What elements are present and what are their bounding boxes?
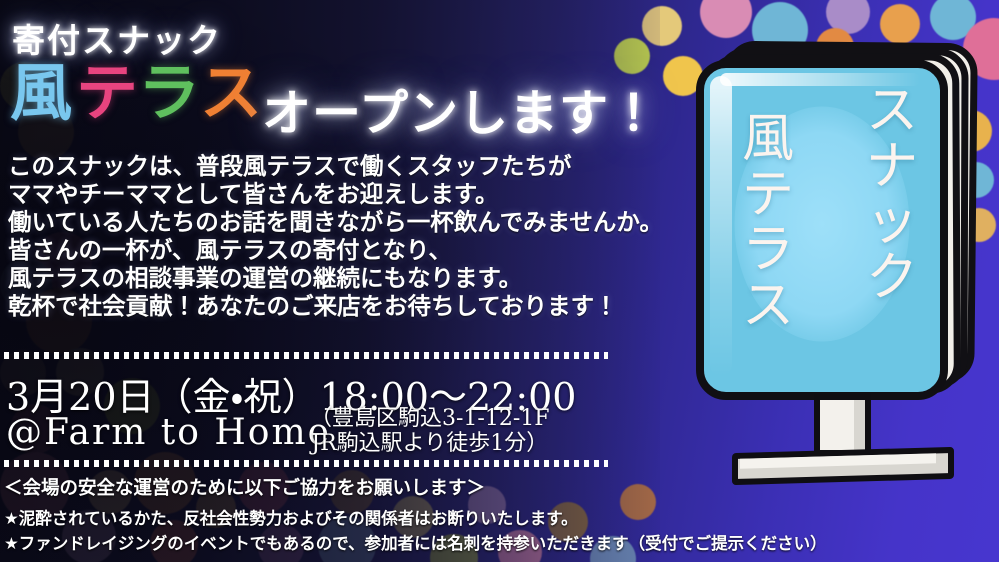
address-line-1: （豊島区駒込3-1-12-1F xyxy=(310,406,550,431)
body-line: 働いている人たちのお話を聞きながら一杯飲んでみませんか。 xyxy=(8,208,648,236)
address-line-2: JR駒込駅より徒歩1分） xyxy=(310,431,550,456)
open-announcement: オープンします！ xyxy=(262,74,659,145)
logo-char-te: テ xyxy=(76,62,138,124)
sign-char: ナ xyxy=(866,140,918,196)
sign-char: ス xyxy=(742,279,794,335)
logo-char-ra: ラ xyxy=(138,62,200,124)
sign-char: テ xyxy=(742,168,794,224)
sign-stand-post-highlight xyxy=(820,400,854,450)
sign-panel: スナック 風テラス xyxy=(696,60,948,400)
event-address: （豊島区駒込3-1-12-1F JR駒込駅より徒歩1分） xyxy=(310,406,550,456)
logo-char-su: ス xyxy=(200,62,262,124)
event-venue: @Farm to Home xyxy=(6,412,331,453)
logo-char-kaze: 風 xyxy=(10,62,72,124)
body-line: 乾杯で社会貢献！あなたのご来店をお待ちしております！ xyxy=(8,292,648,320)
sign-char: ラ xyxy=(742,223,794,279)
body-line: 風テラスの相談事業の運営の継続にもなります。 xyxy=(8,264,648,292)
sign-char: 風 xyxy=(742,112,794,168)
sign-panel-sheen-left xyxy=(710,76,732,376)
body-line: ママやチーママとして皆さんをお迎えします。 xyxy=(8,180,648,208)
poster-root: 寄付スナック 風 テ ラ ス オープンします！ このスナックは、普段風テラスで働… xyxy=(0,0,999,562)
sign-text-column-right: スナック xyxy=(866,84,918,307)
divider-bottom xyxy=(4,460,608,467)
sign-text-column-left: 風テラス xyxy=(742,112,794,335)
sign-char: ク xyxy=(866,251,918,307)
body-paragraph: このスナックは、普段風テラスで働くスタッフたちがママやチーママとして皆さんをお迎… xyxy=(8,152,648,320)
body-line: このスナックは、普段風テラスで働くスタッフたちが xyxy=(8,152,648,180)
body-line: 皆さんの一杯が、風テラスの寄付となり、 xyxy=(8,236,648,264)
sign-char: ッ xyxy=(866,195,918,251)
confetti-dot xyxy=(614,38,650,74)
notice-heading: ＜会場の安全な運営のために以下ご協力をお願いします＞ xyxy=(4,474,485,500)
divider-top xyxy=(4,352,608,359)
snack-sign-illustration: スナック 風テラス xyxy=(688,28,993,548)
kaze-terrace-logo: 風 テ ラ ス xyxy=(10,62,262,124)
confetti-dot xyxy=(642,6,682,46)
sign-char: ス xyxy=(866,84,918,140)
headline-small: 寄付スナック xyxy=(12,14,222,62)
